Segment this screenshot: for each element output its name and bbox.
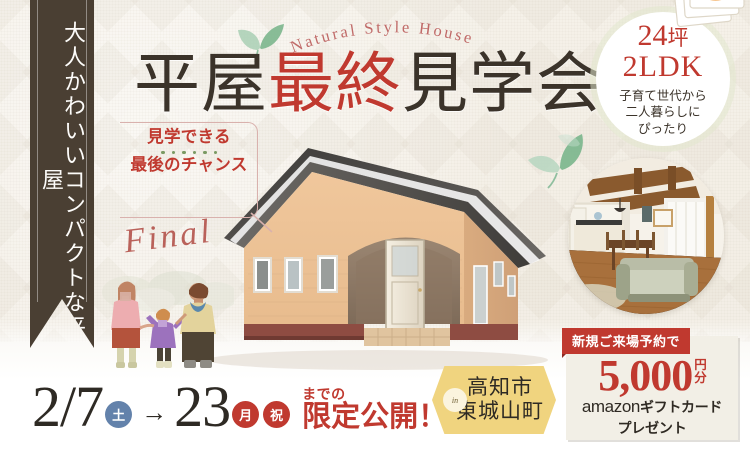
vertical-ribbon-text: 大人かわいいコンパクトな平屋 bbox=[40, 12, 84, 348]
dot-separator bbox=[126, 151, 252, 155]
amazon-present-label: プレゼント bbox=[618, 418, 687, 438]
title-part-3: 見学会 bbox=[402, 48, 603, 121]
amazon-amount-row: 5,000 円 分 bbox=[598, 355, 706, 396]
family-illustration bbox=[98, 262, 234, 374]
date-start: 2/7 bbox=[32, 378, 103, 436]
until-label: までの bbox=[302, 387, 447, 401]
banner-stage: Natural Style House 平屋最終見学会 bbox=[0, 0, 750, 450]
chance-bracket-tail bbox=[250, 212, 276, 234]
location-marker-icon: in bbox=[443, 388, 467, 412]
location-city: 高知市 bbox=[456, 376, 544, 400]
amazon-giftcard-label: ギフトカード bbox=[640, 397, 722, 417]
spec-badge: 24坪 2LDK 子育て世代から 二人暮らしに ぴったり bbox=[596, 12, 730, 146]
event-dates: 2/7 土 → 23 月 祝 までの 限定公開！ bbox=[32, 378, 447, 436]
amazon-giftcard-row: amazon ギフトカード bbox=[582, 397, 722, 417]
chance-line-1: 見学できる bbox=[126, 128, 252, 148]
location-badge: in 高知市 東城山町 bbox=[432, 366, 556, 434]
chance-line-2: 最後のチャンス bbox=[126, 156, 252, 176]
spec-desc-line-1: 子育て世代から bbox=[619, 88, 707, 105]
limited-block: までの 限定公開！ bbox=[302, 387, 447, 432]
date-end-weekday: 月 bbox=[232, 401, 259, 428]
date-end-holiday: 祝 bbox=[263, 401, 290, 428]
amazon-amount: 5,000 bbox=[598, 355, 692, 396]
amazon-yen-line-2: 分 bbox=[694, 372, 706, 385]
spec-desc-line-2: 二人暮らしに bbox=[619, 104, 707, 121]
spec-size-number: 24 bbox=[638, 19, 668, 52]
amazon-header-label: 新規ご来場予約で bbox=[562, 328, 690, 354]
gift-cards-icon bbox=[670, 0, 750, 28]
location-text: 高知市 東城山町 bbox=[456, 376, 544, 423]
date-end: 23 bbox=[174, 378, 230, 436]
amazon-yen-unit: 円 分 bbox=[694, 359, 706, 385]
vertical-ribbon: 大人かわいいコンパクトな平屋 bbox=[30, 0, 94, 348]
title-part-2: 最終 bbox=[268, 48, 402, 121]
spec-desc-line-3: ぴったり bbox=[619, 121, 707, 138]
leaf-icon-bottom-right bbox=[556, 120, 600, 160]
amazon-brand: amazon bbox=[582, 397, 640, 417]
spec-size-unit: 坪 bbox=[668, 26, 689, 50]
date-arrow-icon: → bbox=[141, 397, 167, 428]
amazon-gift-box: 新規ご来場予約で 5,000 円 分 amazon ギフトカード プレゼント bbox=[566, 336, 738, 440]
interior-photo bbox=[568, 158, 724, 314]
title-part-1: 平屋 bbox=[134, 48, 268, 121]
family-child bbox=[146, 309, 184, 368]
page-title: 平屋最終見学会 bbox=[134, 52, 603, 118]
date-start-weekday: 土 bbox=[105, 401, 132, 428]
spec-description: 子育て世代から 二人暮らしに ぴったり bbox=[619, 88, 707, 138]
spec-layout: 2LDK bbox=[623, 51, 704, 83]
limited-label: 限定公開！ bbox=[302, 403, 447, 432]
location-town: 東城山町 bbox=[456, 400, 544, 424]
chance-copy: 見学できる 最後のチャンス bbox=[126, 128, 252, 176]
